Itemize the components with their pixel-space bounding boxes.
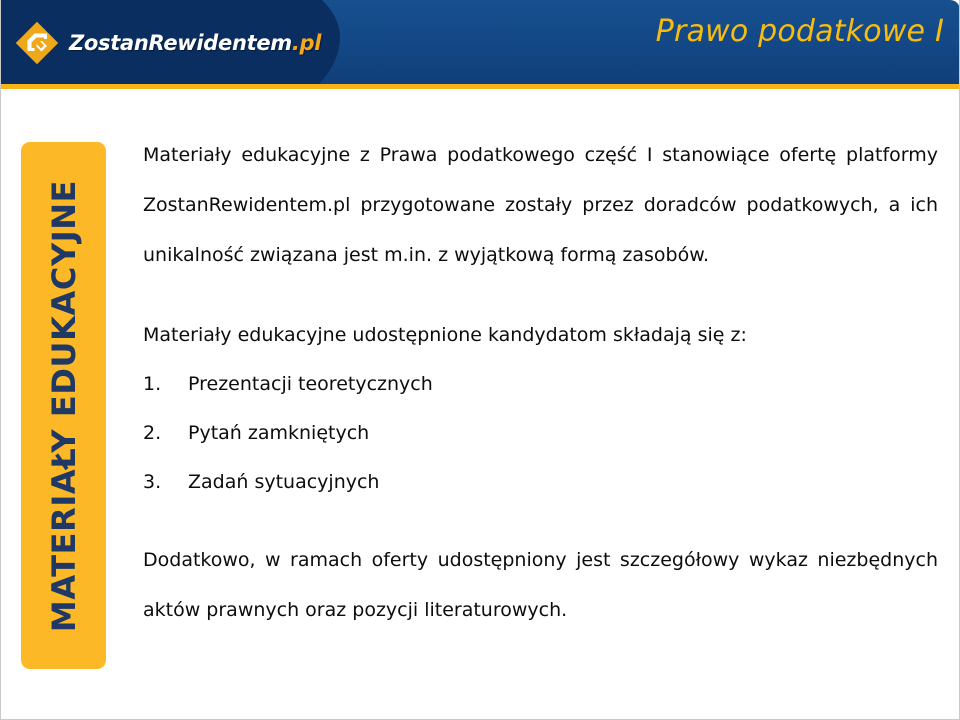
page-title: Prawo podatkowe I xyxy=(656,14,944,49)
brand-tld: .pl xyxy=(292,31,321,55)
numbered-list: 1. Prezentacji teoretycznych 2. Pytań za… xyxy=(143,360,938,507)
sidebar-tab-label: MATERIAŁY EDUKACYJNE xyxy=(45,179,83,631)
list-item: 2. Pytań zamkniętych xyxy=(143,409,938,458)
brand-logo-text: ZostanRewidentem.pl xyxy=(69,31,321,55)
spacer xyxy=(143,280,938,310)
brand-logo[interactable]: ZostanRewidentem.pl xyxy=(14,17,264,69)
brand-name: ZostanRewidentem xyxy=(69,31,292,55)
header-gold-divider xyxy=(0,84,960,89)
list-item-label: Zadań sytuacyjnych xyxy=(188,471,379,493)
zr-diamond-logo-icon xyxy=(14,20,60,66)
spacer xyxy=(143,507,938,535)
list-item: 3. Zadań sytuacyjnych xyxy=(143,458,938,507)
list-item-number: 2. xyxy=(143,409,177,458)
paragraph-intro: Materiały edukacyjne z Prawa podatkowego… xyxy=(143,130,938,280)
content-area: Materiały edukacyjne z Prawa podatkowego… xyxy=(143,130,938,635)
list-item-label: Prezentacji teoretycznych xyxy=(188,373,433,395)
list-lead-in: Materiały edukacyjne udostępnione kandyd… xyxy=(143,310,938,360)
slide: ZostanRewidentem.pl Prawo podatkowe I MA… xyxy=(0,0,960,720)
list-item: 1. Prezentacji teoretycznych xyxy=(143,360,938,409)
paragraph-final: Dodatkowo, w ramach oferty udostępniony … xyxy=(143,535,938,635)
sidebar-tab-materialy-edukacyjne: MATERIAŁY EDUKACYJNE xyxy=(21,142,106,669)
list-item-number: 3. xyxy=(143,458,177,507)
list-item-number: 1. xyxy=(143,360,177,409)
list-item-label: Pytań zamkniętych xyxy=(188,422,369,444)
